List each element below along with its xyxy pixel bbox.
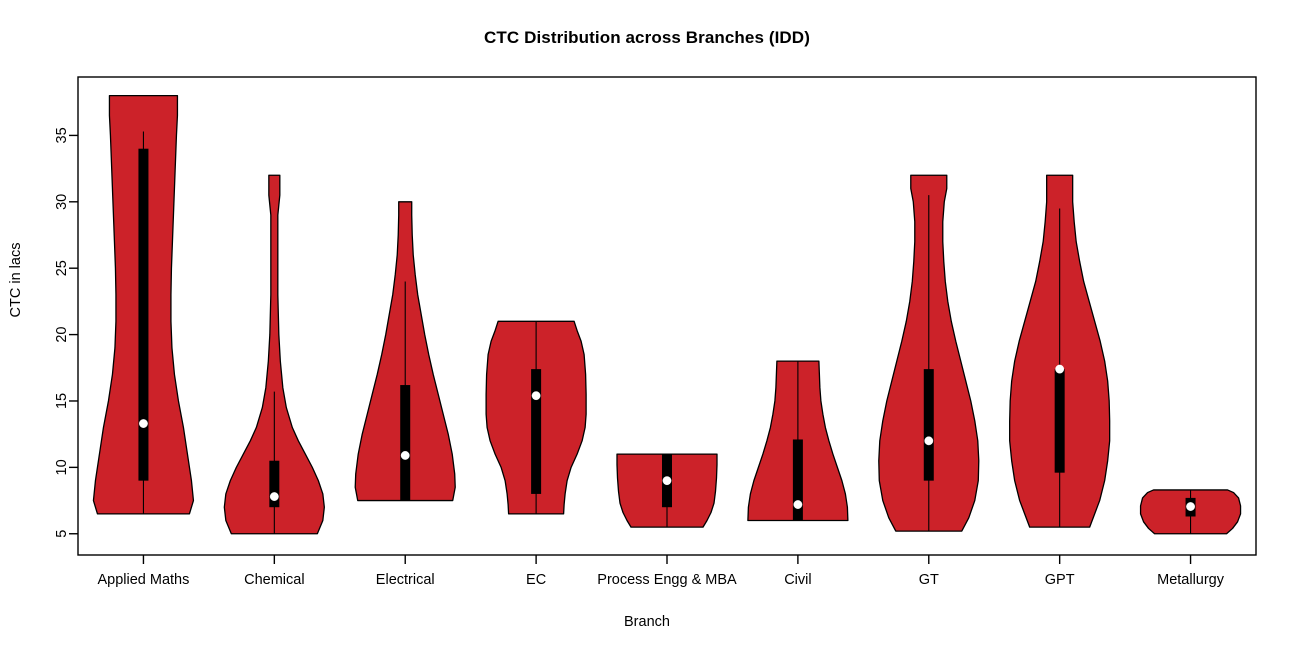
- iqr-box: [1055, 369, 1065, 473]
- median-point: [925, 437, 933, 445]
- y-tick-label: 30: [54, 194, 70, 210]
- violin-applied-maths: [93, 96, 193, 514]
- median-point: [1055, 365, 1063, 373]
- x-tick-label: EC: [526, 572, 546, 588]
- x-tick-label: Chemical: [244, 572, 304, 588]
- median-point: [532, 391, 540, 399]
- violin-process-engg-mba: [617, 454, 717, 527]
- median-point: [663, 476, 671, 484]
- y-tick-label: 25: [54, 260, 70, 276]
- median-point: [270, 492, 278, 500]
- x-tick-label: Process Engg & MBA: [597, 572, 737, 588]
- violin-gt: [879, 175, 979, 531]
- violin-chemical: [224, 175, 324, 534]
- median-point: [794, 500, 802, 508]
- median-point: [139, 419, 147, 427]
- y-tick-label: 15: [54, 393, 70, 409]
- iqr-box: [400, 385, 410, 501]
- violin-plot-figure: CTC Distribution across Branches (IDD) C…: [0, 0, 1294, 653]
- iqr-box: [924, 369, 934, 481]
- x-tick-label: GPT: [1045, 572, 1075, 588]
- violin-electrical: [355, 202, 455, 501]
- x-tick-label: Electrical: [376, 572, 435, 588]
- median-point: [401, 451, 409, 459]
- x-tick-label: Applied Maths: [97, 572, 189, 588]
- y-tick-label: 10: [54, 459, 70, 475]
- violin-metallurgy: [1141, 490, 1241, 534]
- x-tick-label: GT: [919, 572, 939, 588]
- median-point: [1186, 502, 1194, 510]
- violin-civil: [748, 361, 848, 520]
- violin-chart-canvas: 5101520253035 Applied MathsChemicalElect…: [0, 0, 1294, 653]
- x-tick-label: Civil: [784, 572, 811, 588]
- y-tick-label: 20: [54, 327, 70, 343]
- y-tick-label: 35: [54, 127, 70, 143]
- iqr-box: [531, 369, 541, 494]
- violin-gpt: [1010, 175, 1110, 527]
- y-axis: 5101520253035: [54, 127, 78, 537]
- y-tick-label: 5: [54, 530, 70, 538]
- violin-series-group: [93, 96, 1240, 534]
- violin-ec: [486, 321, 586, 514]
- iqr-box: [138, 149, 148, 481]
- x-tick-label: Metallurgy: [1157, 572, 1225, 588]
- x-axis: Applied MathsChemicalElectricalECProcess…: [97, 555, 1224, 588]
